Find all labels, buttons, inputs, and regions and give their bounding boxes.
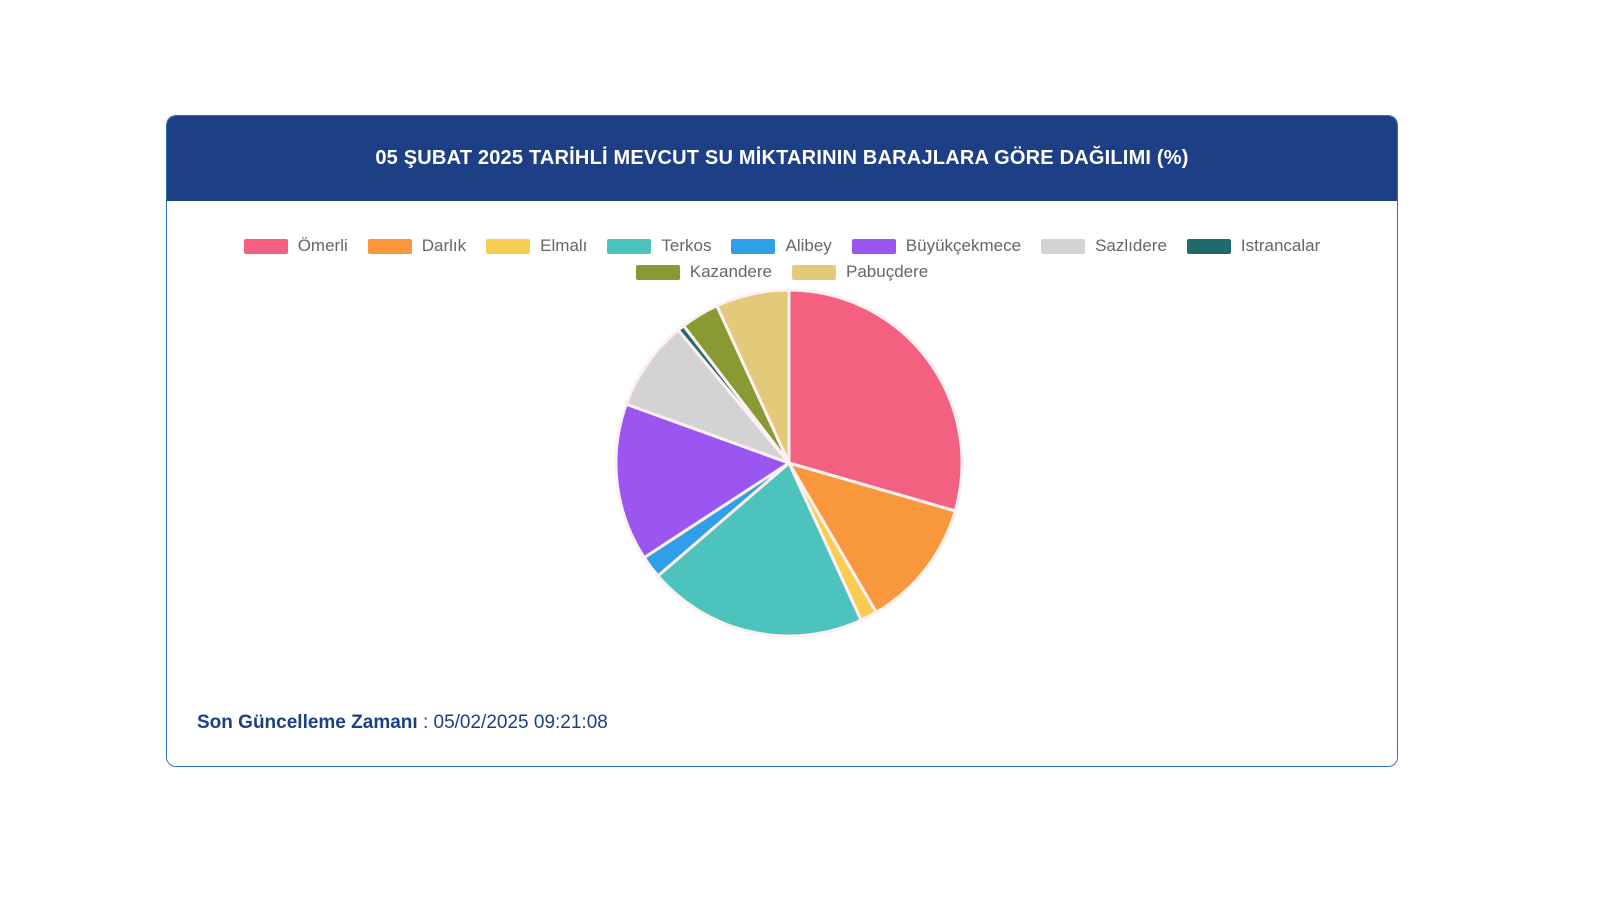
last-update-label: Son Güncelleme Zamanı xyxy=(197,712,418,733)
legend-item-label: Ömerli xyxy=(298,236,348,256)
legend-swatch-icon xyxy=(636,265,680,280)
legend-item[interactable]: Kazandere xyxy=(626,262,782,282)
chart-card: 05 ŞUBAT 2025 TARİHLİ MEVCUT SU MİKTARIN… xyxy=(166,115,1398,767)
legend-swatch-icon xyxy=(486,239,530,254)
legend-swatch-icon xyxy=(1187,239,1231,254)
chart-area xyxy=(167,285,1397,685)
card-body: ÖmerliDarlıkElmalıTerkosAlibeyBüyükçekme… xyxy=(167,201,1397,766)
legend-item[interactable]: Sazlıdere xyxy=(1031,236,1177,256)
legend-item-label: Alibey xyxy=(785,236,831,256)
legend-item[interactable]: Pabuçdere xyxy=(782,262,938,282)
legend-item-label: Pabuçdere xyxy=(846,262,928,282)
legend-swatch-icon xyxy=(244,239,288,254)
pie-chart-svg xyxy=(616,290,962,636)
legend-swatch-icon xyxy=(852,239,896,254)
legend-item-label: Istrancalar xyxy=(1241,236,1320,256)
legend-item[interactable]: Darlık xyxy=(358,236,476,256)
legend-item-label: Büyükçekmece xyxy=(906,236,1021,256)
legend-item[interactable]: Büyükçekmece xyxy=(842,236,1031,256)
legend-item[interactable]: Elmalı xyxy=(476,236,597,256)
legend-item-label: Darlık xyxy=(422,236,466,256)
legend-item-label: Elmalı xyxy=(540,236,587,256)
legend-swatch-icon xyxy=(792,265,836,280)
chart-legend: ÖmerliDarlıkElmalıTerkosAlibeyBüyükçekme… xyxy=(202,201,1362,285)
legend-item-label: Kazandere xyxy=(690,262,772,282)
page-root: 05 ŞUBAT 2025 TARİHLİ MEVCUT SU MİKTARIN… xyxy=(0,0,1600,900)
card-header: 05 ŞUBAT 2025 TARİHLİ MEVCUT SU MİKTARIN… xyxy=(167,116,1397,201)
legend-swatch-icon xyxy=(731,239,775,254)
legend-swatch-icon xyxy=(607,239,651,254)
legend-swatch-icon xyxy=(1041,239,1085,254)
last-update-value: 05/02/2025 09:21:08 xyxy=(434,712,608,733)
legend-item-label: Terkos xyxy=(661,236,711,256)
legend-item[interactable]: Istrancalar xyxy=(1177,236,1330,256)
legend-swatch-icon xyxy=(368,239,412,254)
legend-item[interactable]: Ömerli xyxy=(234,236,358,256)
legend-item[interactable]: Terkos xyxy=(597,236,721,256)
legend-item-label: Sazlıdere xyxy=(1095,236,1167,256)
page-title: 05 ŞUBAT 2025 TARİHLİ MEVCUT SU MİKTARIN… xyxy=(375,147,1188,170)
pie-chart xyxy=(616,290,962,636)
last-update-footer: Son Güncelleme Zamanı : 05/02/2025 09:21… xyxy=(197,712,608,734)
last-update-separator: : xyxy=(423,712,428,733)
legend-item[interactable]: Alibey xyxy=(721,236,841,256)
